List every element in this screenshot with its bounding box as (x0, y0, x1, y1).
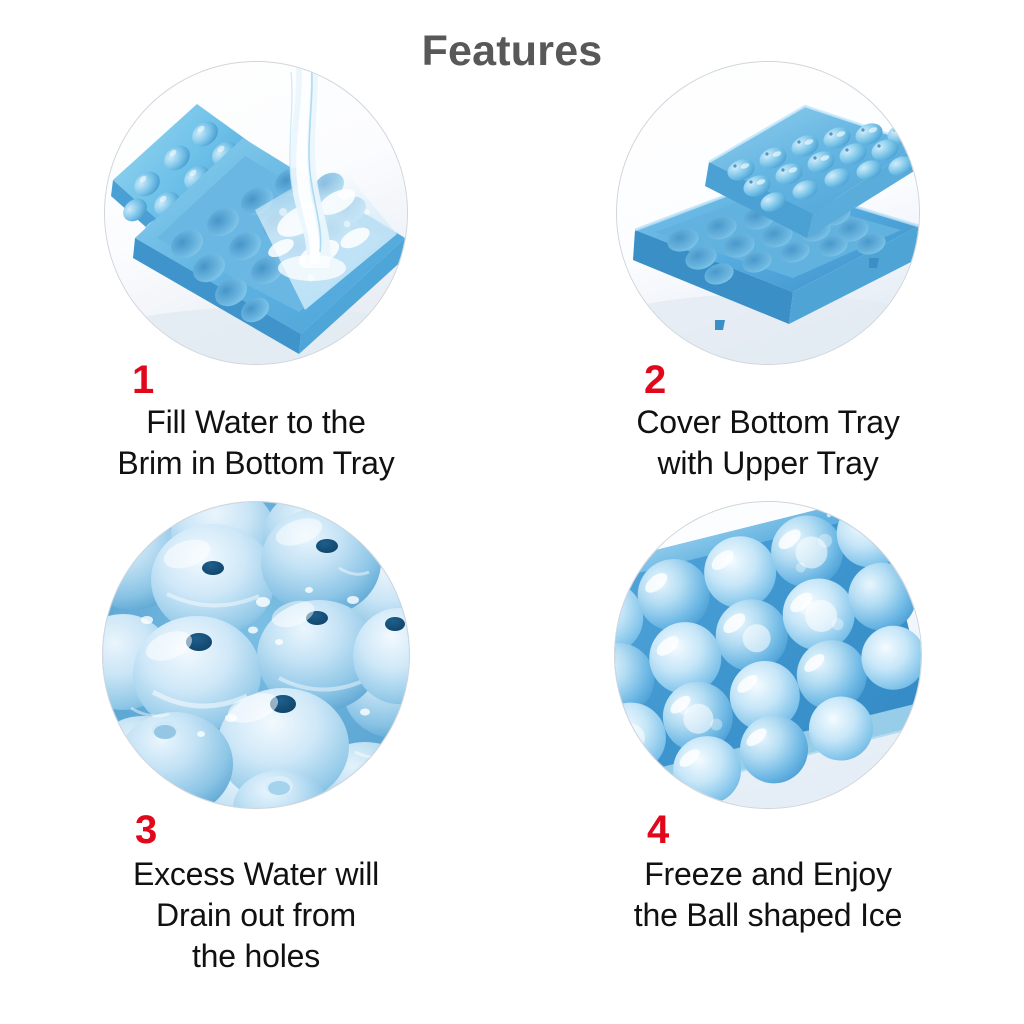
step-card-1: 1 Fill Water to the Brim in Bottom Tray (0, 62, 512, 502)
step-number-2: 2 (644, 360, 666, 400)
step-number-1: 1 (132, 360, 154, 400)
ice-tray-filling-with-water-photo (105, 62, 407, 364)
step-caption-4: Freeze and Enjoy the Ball shaped Ice (512, 854, 1024, 936)
step-3-photo-frame (103, 502, 409, 808)
step-caption-2: Cover Bottom Tray with Upper Tray (512, 402, 1024, 484)
steps-grid: 1 Fill Water to the Brim in Bottom Tray (0, 62, 1024, 1024)
step-number-4: 4 (647, 810, 669, 850)
step-1-photo-frame (105, 62, 407, 364)
step-1-caption-line-1: Fill Water to the (0, 402, 512, 443)
step-4-photo-frame (615, 502, 921, 808)
step-3-caption-line-2: Drain out from (0, 895, 512, 936)
step-card-4: 4 Freeze and Enjoy the Ball shaped Ice (512, 502, 1024, 942)
step-caption-1: Fill Water to the Brim in Bottom Tray (0, 402, 512, 484)
step-4-caption-line-1: Freeze and Enjoy (512, 854, 1024, 895)
ice-tray-upper-and-bottom-stacked-photo (617, 62, 919, 364)
step-2-caption-line-1: Cover Bottom Tray (512, 402, 1024, 443)
step-1-caption-line-2: Brim in Bottom Tray (0, 443, 512, 484)
features-infographic: Features (0, 0, 1024, 1024)
step-number-3: 3 (135, 810, 157, 850)
step-3-caption-line-3: the holes (0, 936, 512, 977)
step-3-caption-line-1: Excess Water will (0, 854, 512, 895)
step-4-caption-line-2: the Ball shaped Ice (512, 895, 1024, 936)
ice-tray-dome-holes-closeup-photo (103, 502, 409, 808)
step-card-2: 2 Cover Bottom Tray with Upper Tray (512, 62, 1024, 502)
step-card-3: 3 Excess Water will Drain out from the h… (0, 502, 512, 942)
frozen-ice-balls-in-tray-photo (615, 502, 921, 808)
step-caption-3: Excess Water will Drain out from the hol… (0, 854, 512, 977)
step-2-caption-line-2: with Upper Tray (512, 443, 1024, 484)
step-2-photo-frame (617, 62, 919, 364)
